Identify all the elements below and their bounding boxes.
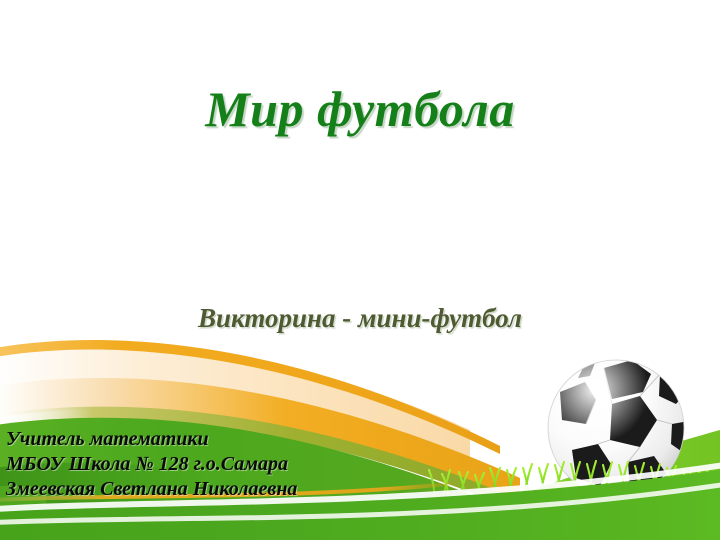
credit-line-role: Учитель математики xyxy=(6,427,426,452)
slide-title: Мир футбола xyxy=(0,80,720,138)
presentation-slide: Мир футбола Викторина - мини-футбол Учит… xyxy=(0,0,720,540)
credit-line-name: Змеевская Светлана Николаевна xyxy=(6,477,426,502)
slide-subtitle: Викторина - мини-футбол xyxy=(0,303,720,334)
author-credits: Учитель математики МБОУ Школа № 128 г.о.… xyxy=(6,427,426,502)
credit-line-school: МБОУ Школа № 128 г.о.Самара xyxy=(6,452,426,477)
